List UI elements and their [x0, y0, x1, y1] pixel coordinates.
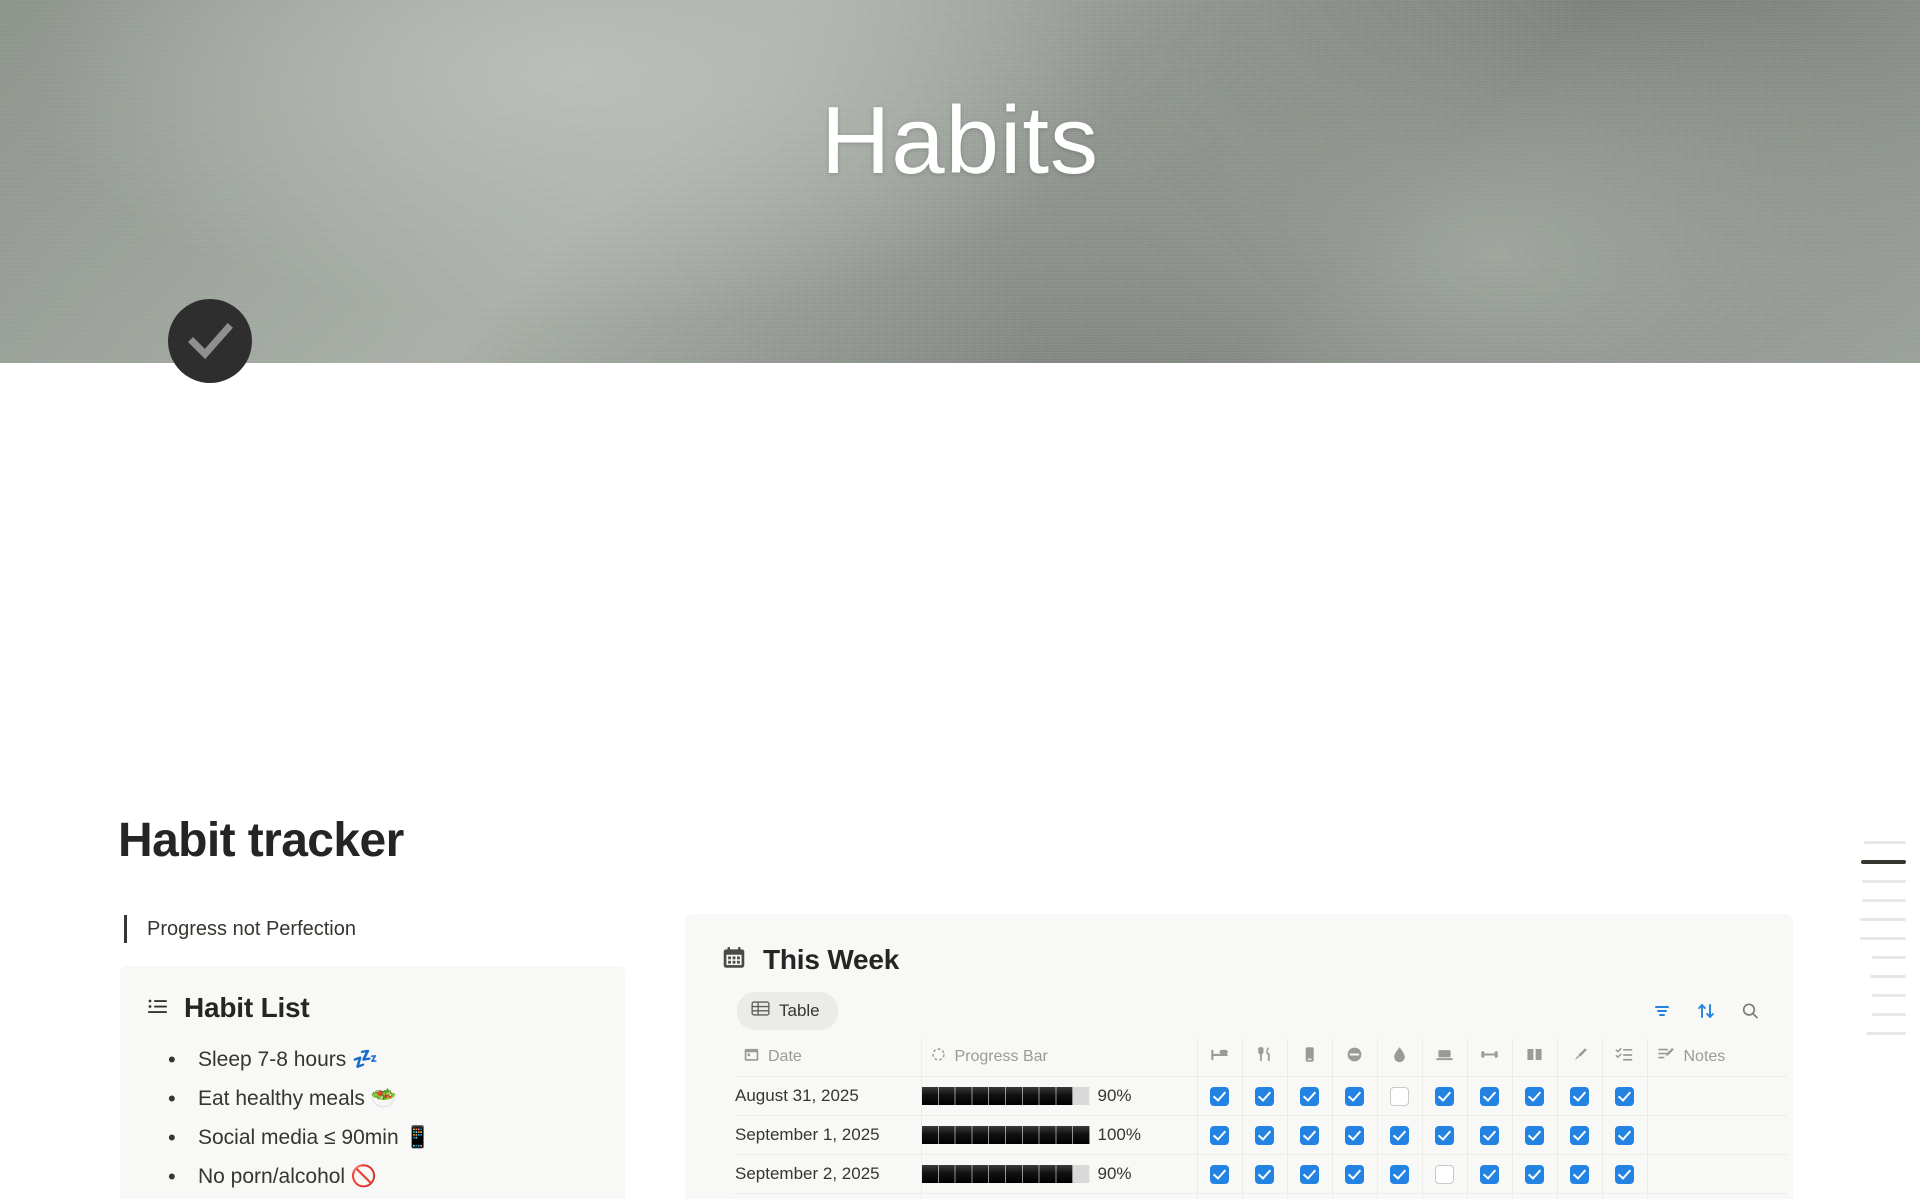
table-body: August 31, 202590%September 1, 2025100%S… — [735, 1076, 1787, 1199]
cell-habit-checkbox[interactable] — [1287, 1115, 1332, 1154]
checkbox-checked[interactable] — [1210, 1126, 1229, 1145]
quote-bar — [124, 915, 127, 943]
list-item: Social media ≤ 90min 📱 — [198, 1118, 599, 1157]
cell-notes[interactable] — [1647, 1154, 1787, 1193]
progress-bar — [922, 1126, 1090, 1144]
outline-item[interactable] — [1872, 1013, 1906, 1016]
checkbox-unchecked[interactable] — [1390, 1087, 1409, 1106]
cell-notes[interactable] — [1647, 1193, 1787, 1199]
cell-progress: 70% — [921, 1193, 1197, 1199]
habit-list-title: Habit List — [184, 992, 310, 1024]
cell-date[interactable]: September 1, 2025 — [735, 1115, 921, 1154]
cell-notes[interactable] — [1647, 1115, 1787, 1154]
checkbox-checked[interactable] — [1345, 1126, 1364, 1145]
check-circle-icon[interactable] — [168, 299, 252, 383]
checkbox-checked[interactable] — [1615, 1126, 1634, 1145]
cell-date[interactable]: September 3, 2025 — [735, 1193, 921, 1199]
checkbox-checked[interactable] — [1435, 1087, 1454, 1106]
progress-circle-icon — [930, 1046, 947, 1068]
outline-item[interactable] — [1870, 975, 1906, 978]
cell-habit-checkbox[interactable] — [1512, 1115, 1557, 1154]
checkbox-checked[interactable] — [1525, 1126, 1544, 1145]
cell-habit-checkbox[interactable] — [1242, 1076, 1287, 1115]
checkbox-checked[interactable] — [1570, 1165, 1589, 1184]
checkbox-checked[interactable] — [1570, 1087, 1589, 1106]
sort-icon[interactable] — [1695, 1000, 1717, 1022]
outline-item[interactable] — [1864, 841, 1906, 844]
cell-habit-checkbox[interactable] — [1287, 1076, 1332, 1115]
table-row[interactable]: September 3, 202570% — [735, 1193, 1787, 1199]
toolbar-icon-group — [1651, 1000, 1761, 1022]
cell-habit-checkbox[interactable] — [1287, 1154, 1332, 1193]
cell-habit-checkbox[interactable] — [1602, 1154, 1647, 1193]
outline-item[interactable] — [1872, 994, 1906, 997]
cell-habit-checkbox[interactable] — [1602, 1115, 1647, 1154]
checkbox-checked[interactable] — [1480, 1165, 1499, 1184]
checkbox-checked[interactable] — [1255, 1165, 1274, 1184]
cell-habit-checkbox[interactable] — [1422, 1076, 1467, 1115]
progress-percent: 100% — [1098, 1125, 1141, 1145]
checkbox-checked[interactable] — [1300, 1165, 1319, 1184]
cell-habit-checkbox[interactable] — [1332, 1193, 1377, 1199]
column-header-habit-plan[interactable] — [1602, 1038, 1647, 1076]
search-icon[interactable] — [1739, 1000, 1761, 1022]
habit-list-items: Sleep 7-8 hours 💤 Eat healthy meals 🥗 So… — [146, 1040, 599, 1199]
column-header-habit-read[interactable] — [1512, 1038, 1557, 1076]
cell-habit-checkbox[interactable] — [1512, 1076, 1557, 1115]
cell-habit-checkbox[interactable] — [1197, 1154, 1242, 1193]
outline-item[interactable] — [1861, 860, 1906, 864]
quote-block: Progress not Perfection — [120, 914, 625, 944]
this-week-header: This Week — [721, 944, 1769, 976]
cell-habit-checkbox[interactable] — [1242, 1154, 1287, 1193]
checkbox-unchecked[interactable] — [1435, 1165, 1454, 1184]
checkbox-checked[interactable] — [1525, 1165, 1544, 1184]
cell-habit-checkbox[interactable] — [1422, 1115, 1467, 1154]
column-header-progress-label: Progress Bar — [955, 1048, 1048, 1066]
cell-habit-checkbox[interactable] — [1377, 1193, 1422, 1199]
column-header-habit-no-alcohol[interactable] — [1332, 1038, 1377, 1076]
progress-percent: 90% — [1098, 1164, 1132, 1184]
calendar-icon — [721, 945, 747, 976]
checkbox-checked[interactable] — [1345, 1087, 1364, 1106]
table-row[interactable]: August 31, 202590% — [735, 1076, 1787, 1115]
cell-habit-checkbox[interactable] — [1377, 1154, 1422, 1193]
cell-habit-checkbox[interactable] — [1467, 1076, 1512, 1115]
quote-text: Progress not Perfection — [147, 918, 356, 941]
cell-habit-checkbox[interactable] — [1197, 1076, 1242, 1115]
calendar-icon — [743, 1046, 760, 1068]
table-row[interactable]: September 2, 202590% — [735, 1154, 1787, 1193]
column-header-habit-meals[interactable] — [1242, 1038, 1287, 1076]
list-item: Sleep 7-8 hours 💤 — [198, 1040, 599, 1079]
tab-table-label: Table — [779, 1001, 820, 1021]
droplet-icon — [1389, 1044, 1410, 1070]
book-icon — [1524, 1044, 1545, 1070]
tab-table-view[interactable]: Table — [737, 992, 838, 1030]
checklist-icon — [1614, 1044, 1635, 1070]
cell-habit-checkbox[interactable] — [1332, 1154, 1377, 1193]
outline-item[interactable] — [1860, 937, 1906, 940]
cell-habit-checkbox[interactable] — [1602, 1076, 1647, 1115]
cell-habit-checkbox[interactable] — [1557, 1076, 1602, 1115]
table-icon — [751, 999, 770, 1023]
checkbox-checked[interactable] — [1390, 1165, 1409, 1184]
checkbox-checked[interactable] — [1480, 1126, 1499, 1145]
cell-habit-checkbox[interactable] — [1287, 1193, 1332, 1199]
cell-habit-checkbox[interactable] — [1467, 1154, 1512, 1193]
bulleted-list-icon — [146, 994, 170, 1023]
fork-knife-icon — [1254, 1044, 1275, 1070]
page-title: Habit tracker — [118, 813, 404, 868]
cell-habit-checkbox[interactable] — [1377, 1076, 1422, 1115]
cell-habit-checkbox[interactable] — [1512, 1193, 1557, 1199]
progress-bar — [922, 1165, 1090, 1183]
checkbox-checked[interactable] — [1300, 1087, 1319, 1106]
cell-habit-checkbox[interactable] — [1467, 1193, 1512, 1199]
table-header-row: Date Progress Bar — [735, 1038, 1787, 1076]
column-header-habit-social-media[interactable] — [1287, 1038, 1332, 1076]
column-header-habit-exercise[interactable] — [1467, 1038, 1512, 1076]
checkbox-checked[interactable] — [1345, 1165, 1364, 1184]
column-header-date-label: Date — [768, 1048, 802, 1066]
table-header: Date Progress Bar — [735, 1038, 1787, 1076]
cell-habit-checkbox[interactable] — [1197, 1115, 1242, 1154]
database-toolbar: Table — [709, 992, 1769, 1030]
checkbox-checked[interactable] — [1570, 1126, 1589, 1145]
cell-habit-checkbox[interactable] — [1602, 1193, 1647, 1199]
cell-habit-checkbox[interactable] — [1422, 1193, 1467, 1199]
cell-habit-checkbox[interactable] — [1467, 1115, 1512, 1154]
outline-item[interactable] — [1862, 899, 1906, 902]
column-header-notes-label: Notes — [1684, 1048, 1726, 1066]
cell-habit-checkbox[interactable] — [1557, 1154, 1602, 1193]
cell-habit-checkbox[interactable] — [1377, 1115, 1422, 1154]
cell-habit-checkbox[interactable] — [1422, 1154, 1467, 1193]
checkbox-checked[interactable] — [1300, 1126, 1319, 1145]
cover-banner: Habits — [0, 0, 1920, 363]
progress-bar — [922, 1087, 1090, 1105]
left-column: Progress not Perfection Habit List Sleep… — [120, 914, 625, 1199]
cover-title: Habits — [0, 86, 1920, 196]
list-item: No porn/alcohol 🚫 — [198, 1157, 599, 1196]
cell-progress: 90% — [921, 1076, 1197, 1115]
cell-habit-checkbox[interactable] — [1197, 1193, 1242, 1199]
column-header-habit-sleep[interactable] — [1197, 1038, 1242, 1076]
this-week-card: This Week Table — [685, 914, 1793, 1199]
checkbox-checked[interactable] — [1255, 1126, 1274, 1145]
table-row[interactable]: September 1, 2025100% — [735, 1115, 1787, 1154]
phone-icon — [1299, 1044, 1320, 1070]
cell-habit-checkbox[interactable] — [1512, 1154, 1557, 1193]
checkbox-checked[interactable] — [1525, 1087, 1544, 1106]
column-header-habit-journal[interactable] — [1557, 1038, 1602, 1076]
column-header-notes[interactable]: Notes — [1647, 1038, 1787, 1076]
cell-habit-checkbox[interactable] — [1332, 1115, 1377, 1154]
column-header-habit-study[interactable] — [1422, 1038, 1467, 1076]
page-outline-indicator[interactable] — [1860, 841, 1906, 1035]
habit-list-card: Habit List Sleep 7-8 hours 💤 Eat healthy… — [120, 966, 625, 1199]
checkbox-checked[interactable] — [1255, 1087, 1274, 1106]
checkbox-checked[interactable] — [1615, 1165, 1634, 1184]
cell-date[interactable]: September 2, 2025 — [735, 1154, 921, 1193]
no-entry-icon — [1344, 1044, 1365, 1070]
outline-item[interactable] — [1862, 880, 1906, 883]
notes-edit-icon — [1656, 1044, 1676, 1069]
cell-date[interactable]: August 31, 2025 — [735, 1076, 921, 1115]
filter-icon[interactable] — [1651, 1000, 1673, 1022]
cell-notes[interactable] — [1647, 1076, 1787, 1115]
checkbox-checked[interactable] — [1390, 1126, 1409, 1145]
progress-percent: 90% — [1098, 1086, 1132, 1106]
cell-progress: 90% — [921, 1154, 1197, 1193]
bed-icon — [1209, 1044, 1230, 1070]
habits-table: Date Progress Bar — [735, 1038, 1787, 1199]
checkbox-checked[interactable] — [1480, 1087, 1499, 1106]
cell-habit-checkbox[interactable] — [1557, 1193, 1602, 1199]
laptop-icon — [1434, 1044, 1455, 1070]
outline-item[interactable] — [1872, 956, 1906, 959]
list-item: Eat healthy meals 🥗 — [198, 1079, 599, 1118]
outline-item[interactable] — [1860, 918, 1906, 921]
cell-habit-checkbox[interactable] — [1332, 1076, 1377, 1115]
checkbox-checked[interactable] — [1435, 1126, 1454, 1145]
cell-habit-checkbox[interactable] — [1242, 1193, 1287, 1199]
checkbox-checked[interactable] — [1210, 1165, 1229, 1184]
this-week-title: This Week — [763, 944, 899, 976]
checkbox-checked[interactable] — [1615, 1087, 1634, 1106]
habit-list-header: Habit List — [146, 992, 599, 1024]
outline-item[interactable] — [1866, 1032, 1906, 1035]
column-header-date[interactable]: Date — [735, 1038, 921, 1076]
cell-progress: 100% — [921, 1115, 1197, 1154]
paintbrush-icon — [1569, 1044, 1590, 1070]
column-header-progress[interactable]: Progress Bar — [921, 1038, 1197, 1076]
column-header-habit-water[interactable] — [1377, 1038, 1422, 1076]
cell-habit-checkbox[interactable] — [1242, 1115, 1287, 1154]
dumbbell-icon — [1479, 1044, 1500, 1070]
cell-habit-checkbox[interactable] — [1557, 1115, 1602, 1154]
checkbox-checked[interactable] — [1210, 1087, 1229, 1106]
